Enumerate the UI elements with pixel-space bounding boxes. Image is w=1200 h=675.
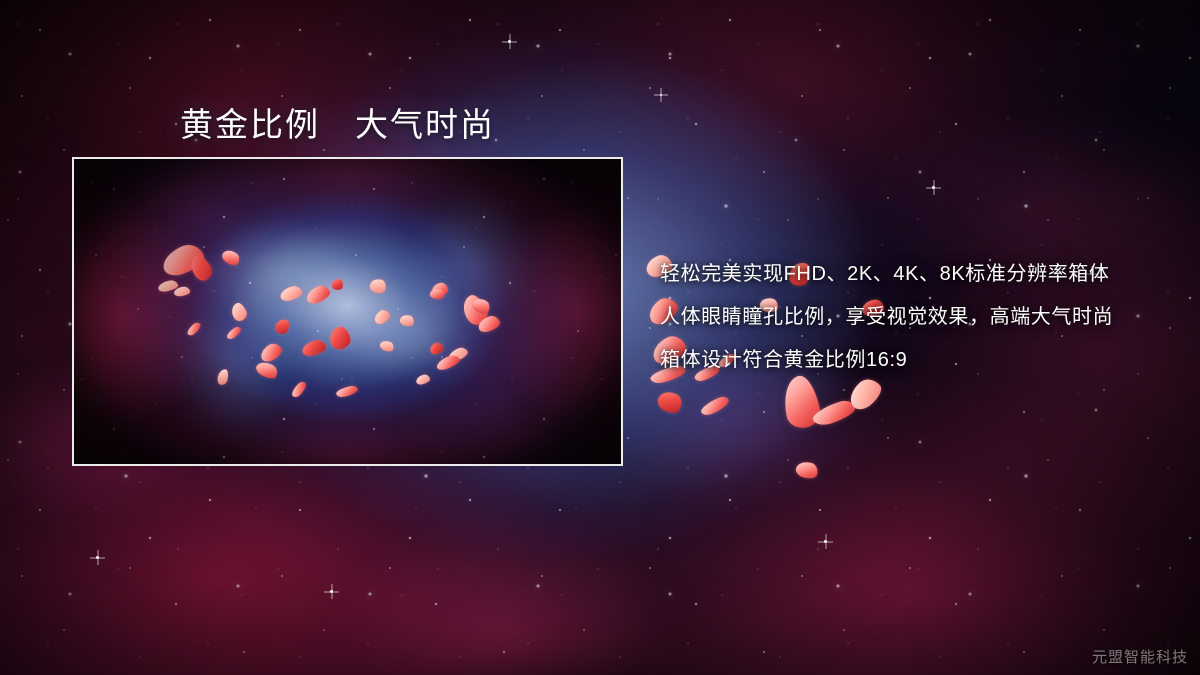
rose-petal-icon xyxy=(794,459,820,480)
framed-image-panel xyxy=(72,157,623,466)
watermark: 元盟智能科技 xyxy=(1092,646,1188,667)
bright-star-icon xyxy=(96,556,99,559)
body-copy-block: 轻松完美实现FHD、2K、4K、8K标准分辨率箱体 人体眼睛瞳孔比例，享受视觉效… xyxy=(660,253,1160,382)
page-title: 黄金比例 大气时尚 xyxy=(180,98,495,146)
rose-petal-icon xyxy=(655,387,686,416)
body-line: 箱体设计符合黄金比例16:9 xyxy=(660,339,1160,382)
bright-star-icon xyxy=(932,186,935,189)
bright-star-icon xyxy=(824,540,827,543)
body-line: 轻松完美实现FHD、2K、4K、8K标准分辨率箱体 xyxy=(660,253,1160,296)
rose-petal-icon xyxy=(699,394,731,417)
body-line: 人体眼睛瞳孔比例，享受视觉效果，高端大气时尚 xyxy=(660,296,1160,339)
panel-vignette xyxy=(74,159,621,464)
bright-star-icon xyxy=(660,94,662,96)
bright-star-icon xyxy=(330,590,333,593)
bright-star-icon xyxy=(508,40,511,43)
presentation-slide: 黄金比例 大气时尚 轻松完美实现FHD、2K、4K、8K标准分辨率箱体 人体眼睛… xyxy=(0,0,1200,675)
